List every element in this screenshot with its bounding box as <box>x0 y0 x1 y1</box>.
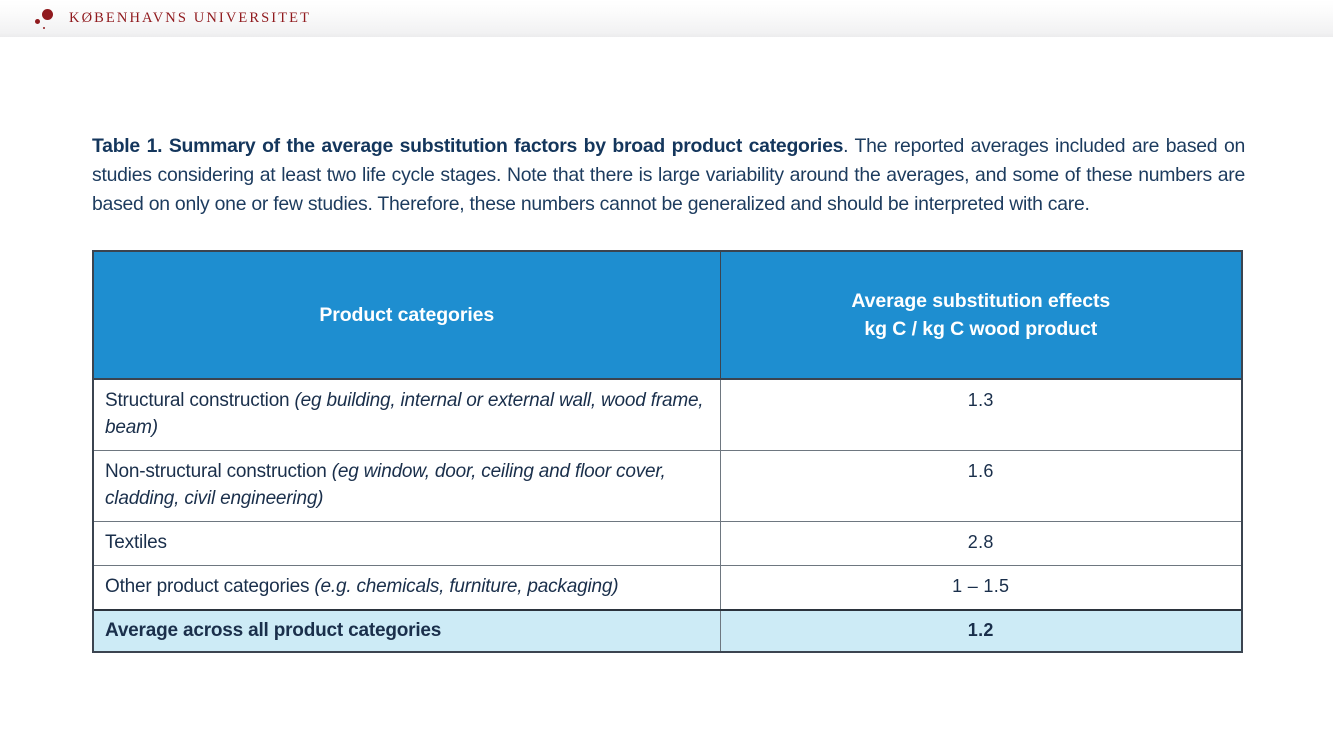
cell-substitution-value: 1 – 1.5 <box>720 566 1241 611</box>
table-row: Non-structural construction (eg window, … <box>94 451 1241 522</box>
category-label: Average across all product categories <box>105 620 441 641</box>
table-total-row: Average across all product categories 1.… <box>94 610 1241 651</box>
cell-product-category-total: Average across all product categories <box>94 610 720 651</box>
table-row: Structural construction (eg building, in… <box>94 379 1241 451</box>
cell-product-category: Textiles <box>94 522 720 566</box>
category-examples: (e.g. chemicals, furniture, packaging) <box>314 576 618 597</box>
cell-product-category: Non-structural construction (eg window, … <box>94 451 720 522</box>
ku-dots-logo-icon <box>30 5 60 33</box>
cell-product-category: Other product categories (e.g. chemicals… <box>94 566 720 611</box>
category-label: Textiles <box>105 532 167 553</box>
substitution-factors-table: Product categories Average substitution … <box>92 250 1243 653</box>
cell-substitution-value-total: 1.2 <box>720 610 1241 651</box>
table-row: Other product categories (e.g. chemicals… <box>94 566 1241 611</box>
brand: KØBENHAVNS UNIVERSITET <box>30 5 311 33</box>
category-label: Structural construction <box>105 390 295 411</box>
column-header-line2: kg C / kg C wood product <box>721 315 1242 343</box>
column-header-line1: Average substitution effects <box>721 287 1242 315</box>
table-row: Textiles 2.8 <box>94 522 1241 566</box>
brand-header-bar: KØBENHAVNS UNIVERSITET <box>0 0 1333 37</box>
category-label: Non-structural construction <box>105 461 332 482</box>
cell-product-category: Structural construction (eg building, in… <box>94 379 720 451</box>
category-label: Other product categories <box>105 576 314 597</box>
brand-name: KØBENHAVNS UNIVERSITET <box>69 10 311 27</box>
document-content: Table 1. Summary of the average substitu… <box>92 132 1245 653</box>
cell-substitution-value: 1.3 <box>720 379 1241 451</box>
table-header-row: Product categories Average substitution … <box>94 252 1241 379</box>
table-caption: Table 1. Summary of the average substitu… <box>92 132 1245 219</box>
table-caption-bold: Table 1. Summary of the average substitu… <box>92 135 843 157</box>
cell-substitution-value: 1.6 <box>720 451 1241 522</box>
column-header-product-categories: Product categories <box>94 252 720 379</box>
cell-substitution-value: 2.8 <box>720 522 1241 566</box>
column-header-average-substitution-effects: Average substitution effects kg C / kg C… <box>720 252 1241 379</box>
